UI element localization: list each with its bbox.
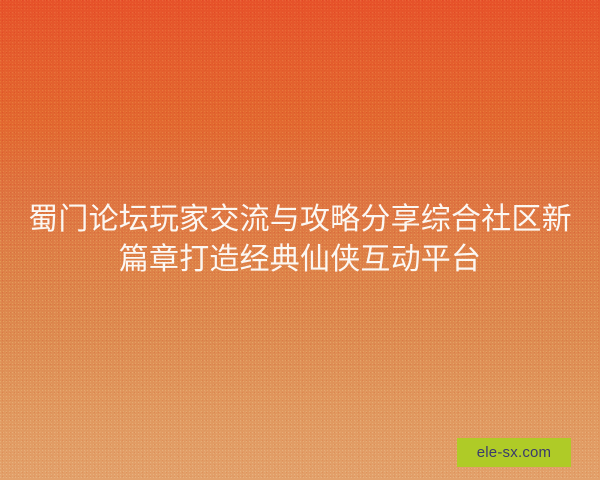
banner-headline: 蜀门论坛玩家交流与攻略分享综合社区新篇章打造经典仙侠互动平台 [22,200,578,280]
headline-block: 蜀门论坛玩家交流与攻略分享综合社区新篇章打造经典仙侠互动平台 [0,200,600,280]
watermark-badge[interactable]: ele-sx.com [457,438,571,467]
promo-banner: 蜀门论坛玩家交流与攻略分享综合社区新篇章打造经典仙侠互动平台 ele-sx.co… [0,0,600,480]
watermark-label: ele-sx.com [477,445,552,460]
